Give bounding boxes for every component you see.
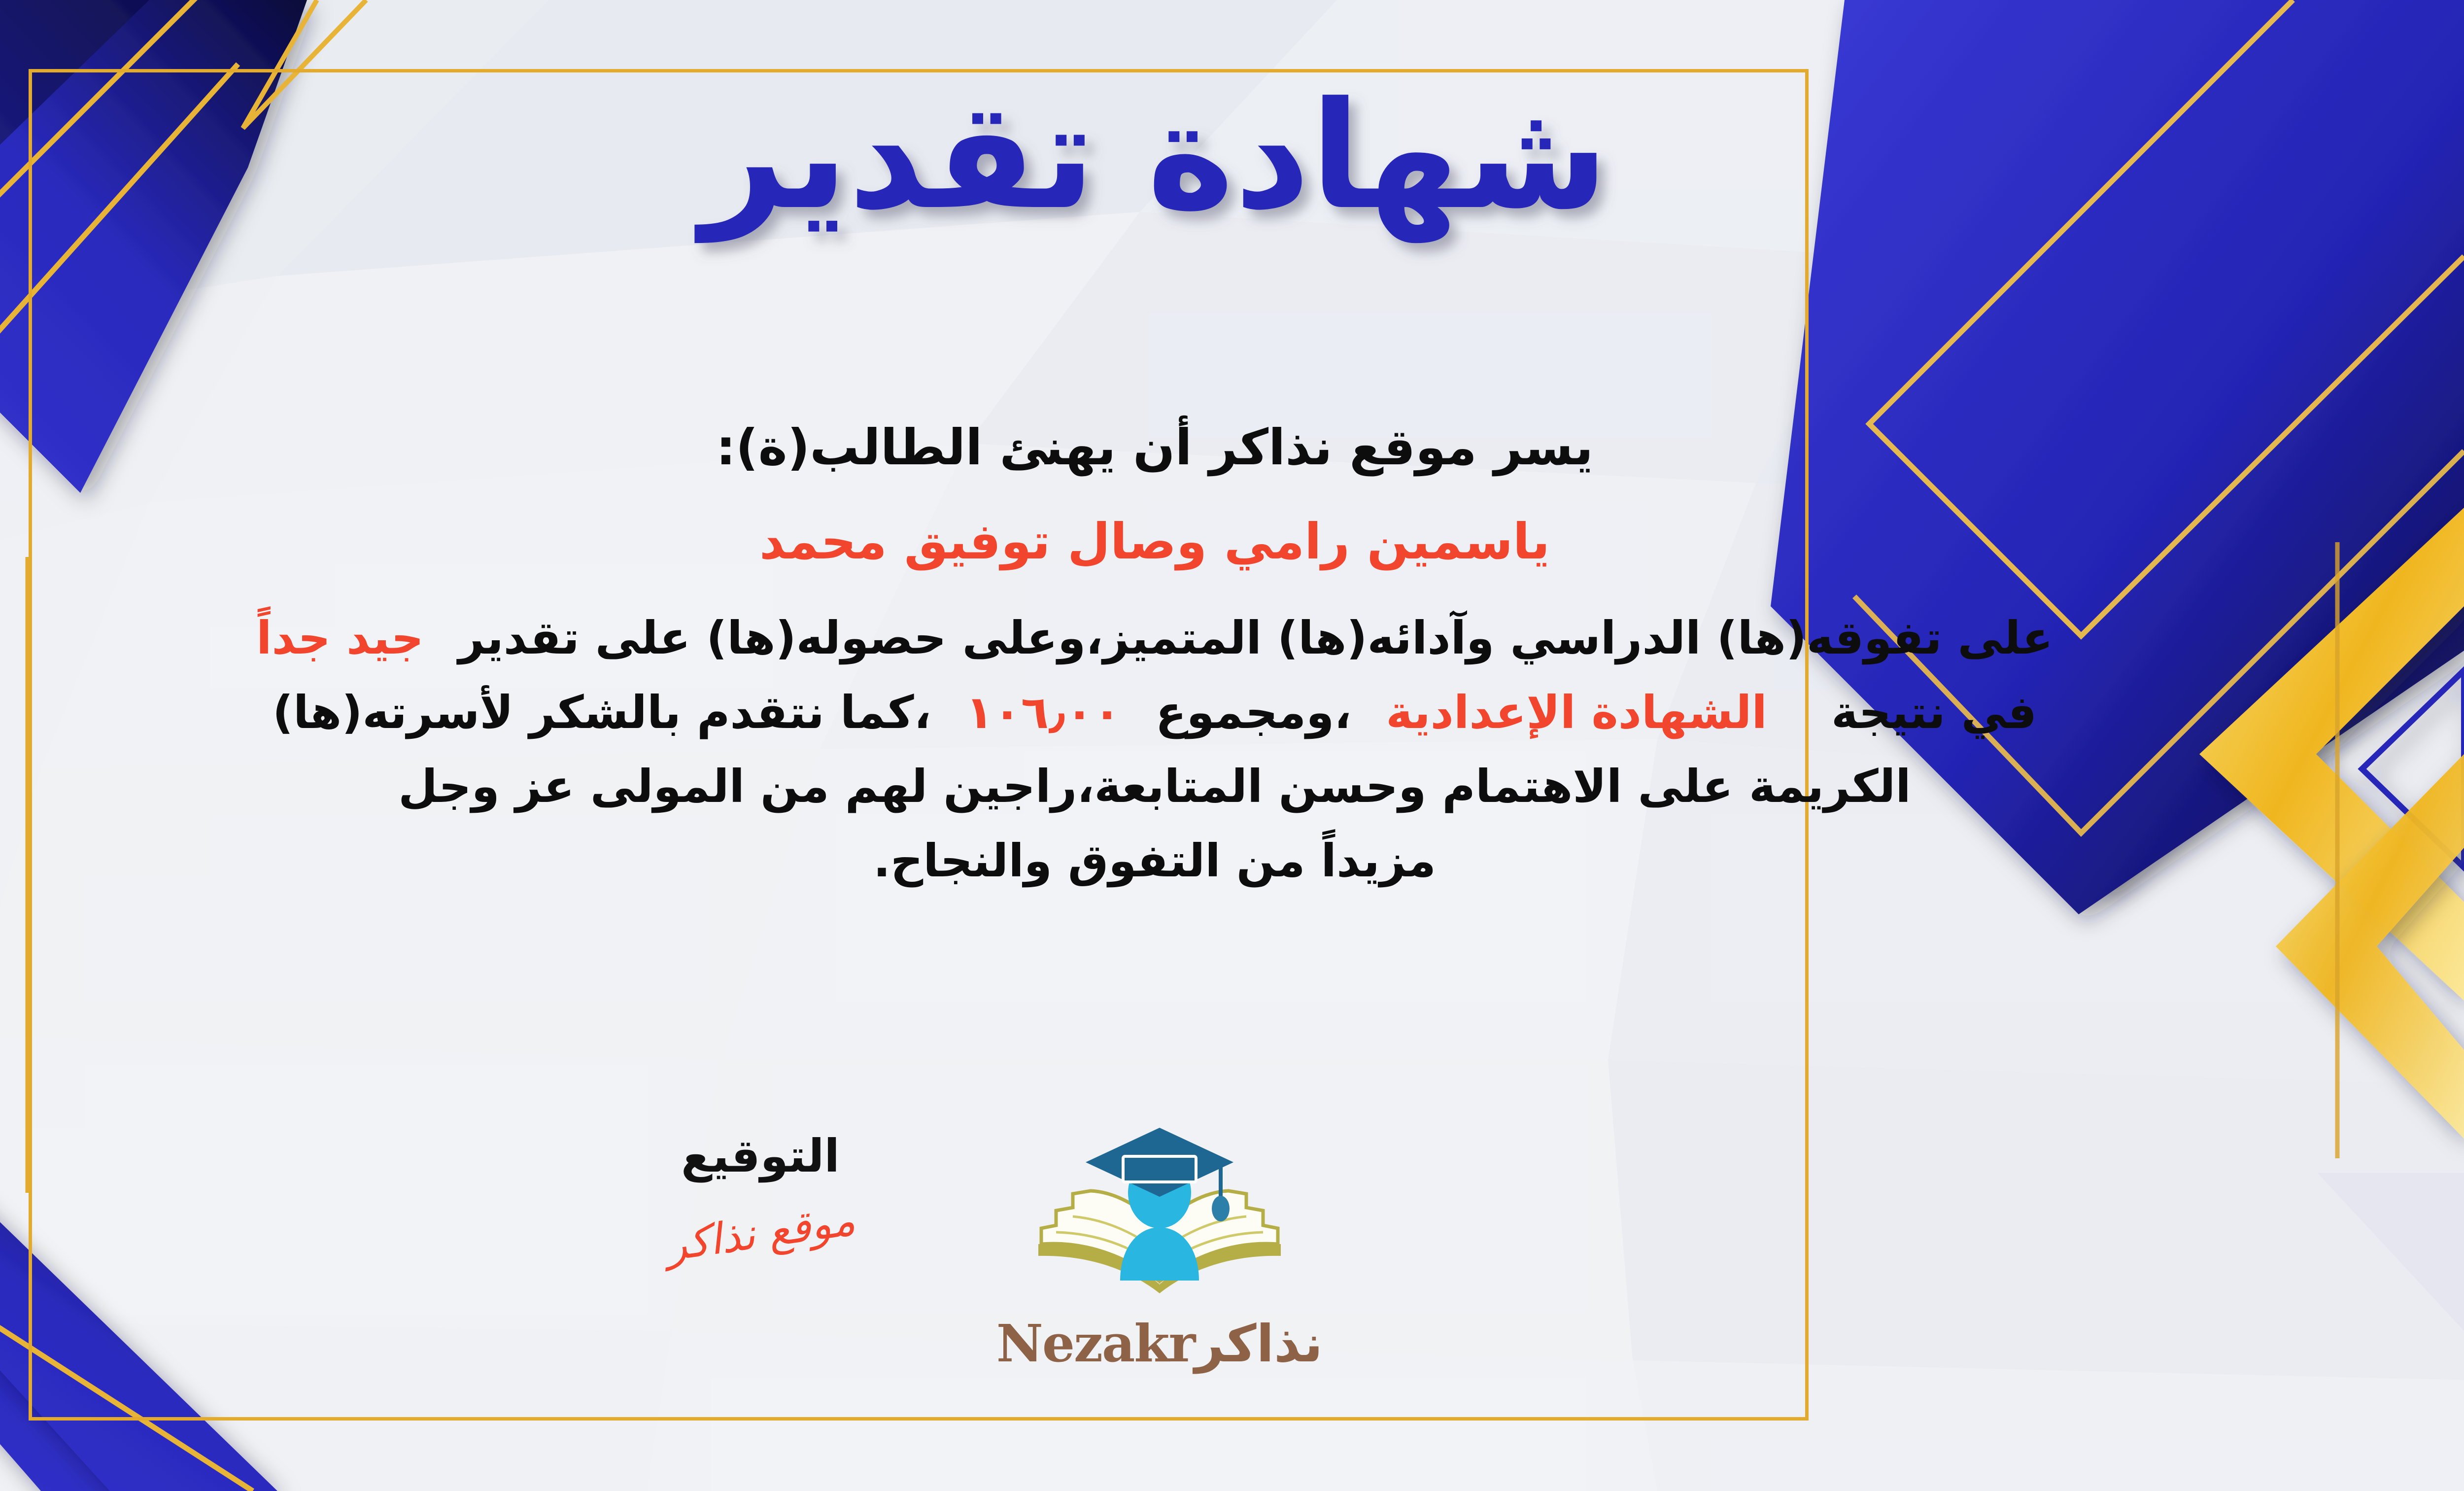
brand-name-arabic: نذاكر	[1195, 1314, 1323, 1374]
achievement-text: على تفوقه(ها) الدراسي وآدائه(ها) المتميز…	[458, 612, 2053, 664]
intro-line: يسر موقع نذاكر أن يهنئ الطالب(ة):	[56, 409, 2254, 485]
total-score: ١٠٦٫٠٠	[966, 686, 1121, 739]
achievement-line: على تفوقه(ها) الدراسي وآدائه(ها) المتميز…	[56, 603, 2254, 674]
exam-prefix: في نتيجة	[1831, 686, 2037, 739]
certificate-title: شهادة تقدير	[0, 59, 2313, 266]
thanks-text: ،كما نتقدم بالشكر لأسرته(ها)	[273, 686, 931, 739]
brand-name-latin: Nezakr	[996, 1313, 1195, 1374]
signature-label: التوقيع	[608, 1134, 913, 1179]
title-glyphs: شهادة تقدير	[694, 70, 1608, 244]
certificate-page: شهادة تقدير يسر موقع نذاكر أن يهنئ الطال…	[0, 0, 2464, 1491]
brand-logo: نذاكرNezakr	[948, 1124, 1371, 1374]
brand-name: نذاكرNezakr	[948, 1313, 1371, 1374]
signature-block: التوقيع موقع نذاكر	[608, 1134, 913, 1258]
graduate-book-icon	[1022, 1124, 1298, 1311]
grade-value: جيد جداً	[256, 612, 424, 664]
exam-name: الشهادة الإعدادية	[1386, 686, 1767, 739]
signature-mark: موقع نذاكر	[663, 1196, 858, 1271]
certificate-body: يسر موقع نذاكر أن يهنئ الطالب(ة): ياسمين…	[56, 409, 2254, 900]
student-name: ياسمين رامي وصال توفيق محمد	[56, 503, 2254, 580]
exam-line: في نتيجةالشهادة الإعدادية،ومجموع١٠٦٫٠٠،ك…	[56, 678, 2254, 748]
total-prefix: ،ومجموع	[1156, 686, 1352, 739]
gratitude-line: الكريمة على الاهتمام وحسن المتابعة،راجين…	[56, 752, 2254, 822]
certificate-content: شهادة تقدير يسر موقع نذاكر أن يهنئ الطال…	[0, 0, 2313, 1491]
certificate-footer: التوقيع موقع نذاكر	[0, 1124, 2313, 1439]
closing-line: مزيداً من التفوق والنجاح.	[56, 826, 2254, 897]
